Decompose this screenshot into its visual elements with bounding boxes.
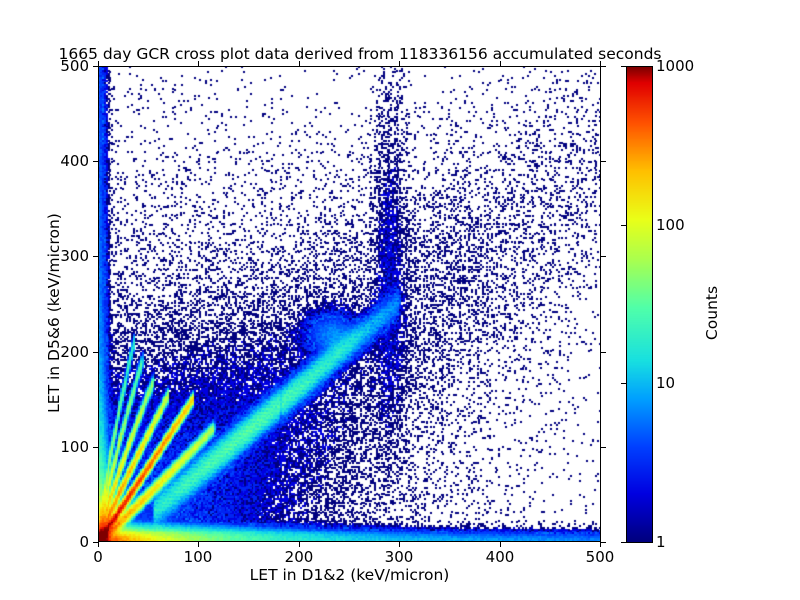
x-ticklabel-400: 400 [470,548,530,566]
y-ticklabel-500: 500 [33,57,89,75]
y-tick-500 [93,66,98,67]
x-tick-top-100 [198,61,199,66]
y-tick-0 [93,542,98,543]
x-tick-300 [399,542,400,547]
colorbar-ticklabel-10: 10 [656,374,675,392]
x-ticklabel-500: 500 [570,548,630,566]
x-tick-200 [299,542,300,547]
colorbar-label: Counts [703,233,721,393]
y-tick-right-500 [601,66,606,67]
colorbar-ticklabel-1: 1 [656,533,666,551]
x-ticklabel-100: 100 [168,548,228,566]
plot-title-line-1: 1665 day GCR cross plot data derived fro… [0,45,720,64]
density-heatmap [99,67,600,541]
plot-area [98,66,601,542]
x-tick-top-400 [500,61,501,66]
y-tick-right-300 [601,256,606,257]
colorbar [626,66,653,543]
x-tick-top-200 [299,61,300,66]
y-tick-right-400 [601,161,606,162]
x-tick-400 [500,542,501,547]
x-ticklabel-200: 200 [269,548,329,566]
y-axis-label: LET in D5&6 (keV/micron) [45,173,63,453]
x-tick-top-0 [98,61,99,66]
colorbar-tick-1000 [621,66,626,67]
x-ticklabel-300: 300 [369,548,429,566]
colorbar-tick-100 [621,225,626,226]
y-ticklabel-400: 400 [33,152,89,170]
x-tick-0 [98,542,99,547]
colorbar-gradient [627,67,652,542]
x-tick-100 [198,542,199,547]
x-axis-label: LET in D1&2 (keV/micron) [98,566,601,584]
y-tick-300 [93,256,98,257]
y-tick-100 [93,447,98,448]
colorbar-ticklabel-100: 100 [656,216,685,234]
colorbar-tick-1 [621,542,626,543]
y-ticklabel-0: 0 [33,533,89,551]
colorbar-ticklabel-1000: 1000 [656,57,694,75]
figure-canvas: 1665 day GCR cross plot data derived fro… [0,0,800,600]
y-tick-200 [93,352,98,353]
colorbar-tick-10 [621,383,626,384]
y-tick-right-0 [601,542,606,543]
y-tick-right-100 [601,447,606,448]
y-tick-right-200 [601,352,606,353]
x-tick-top-300 [399,61,400,66]
y-tick-400 [93,161,98,162]
